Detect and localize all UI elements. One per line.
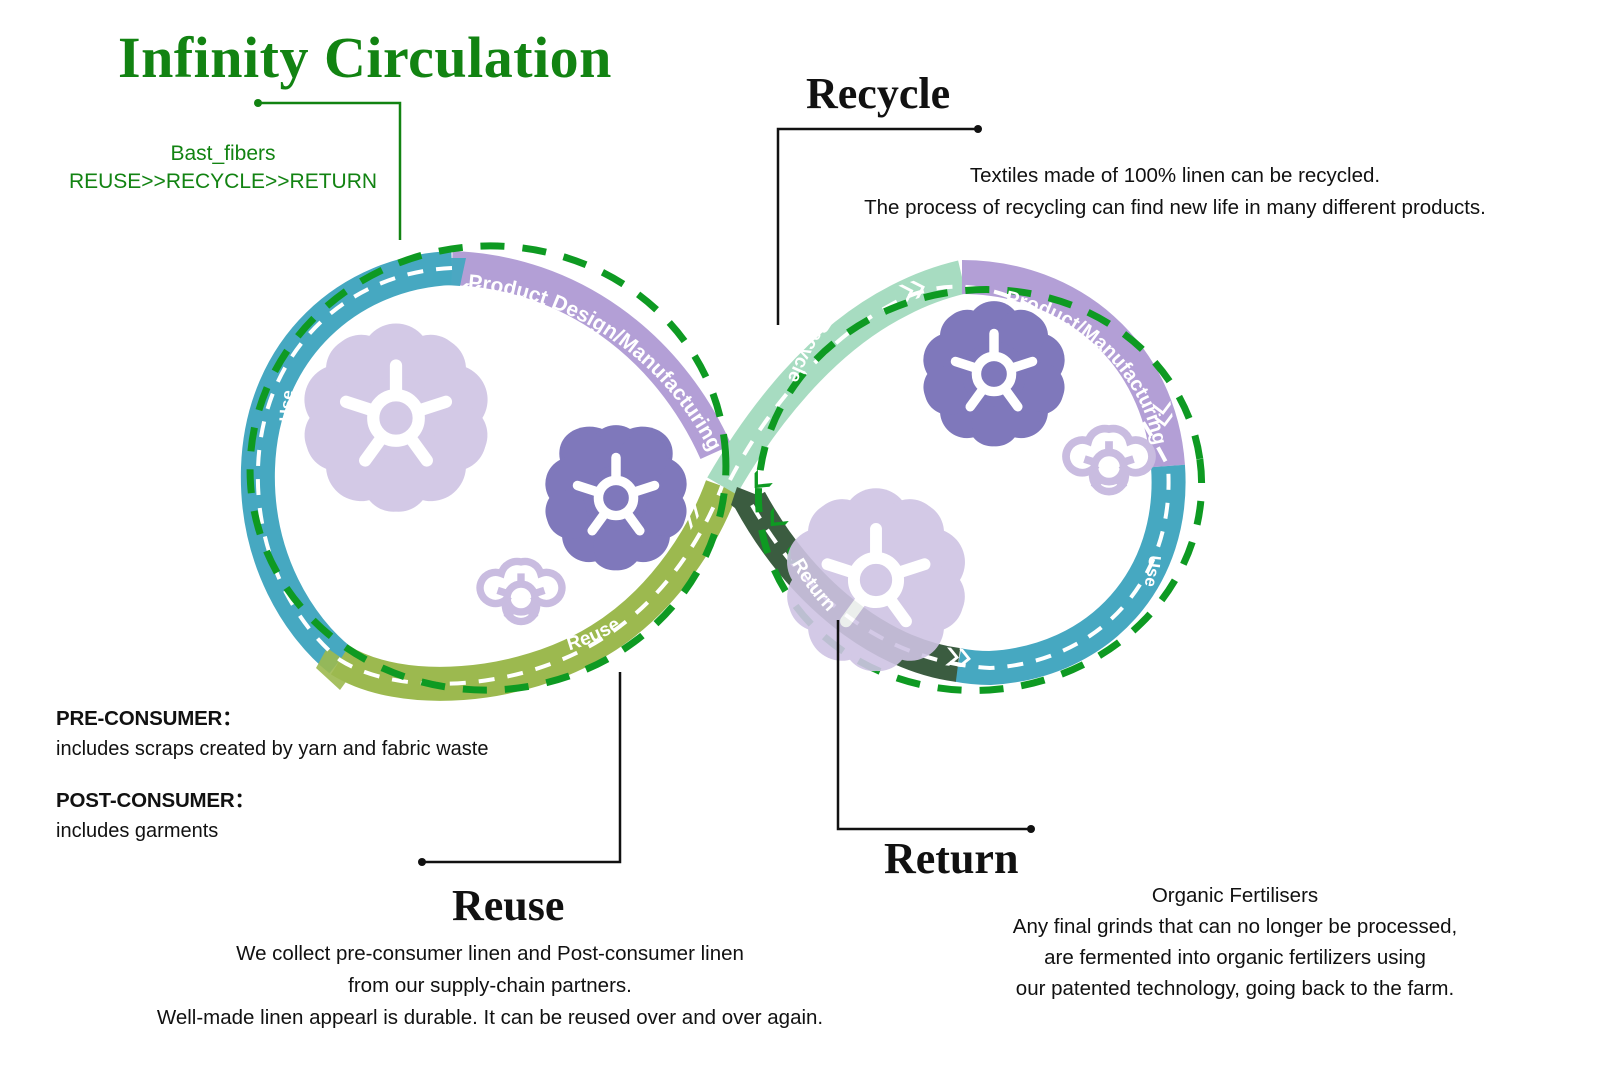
recycle-line1: Textiles made of 100% linen can be recyc… <box>760 160 1590 192</box>
ribbon-label-use-left-text: Use <box>276 389 297 422</box>
return-description: Organic Fertilisers Any final grinds tha… <box>905 880 1565 1004</box>
reuse-description: We collect pre-consumer linen and Post-c… <box>70 938 910 1034</box>
reuse-line1: We collect pre-consumer linen and Post-c… <box>70 938 910 970</box>
flower-lilac-outline-right <box>1066 429 1152 492</box>
return-line4: our patented technology, going back to t… <box>905 973 1565 1004</box>
reuse-heading: Reuse <box>452 880 564 931</box>
reuse-line2: from our supply-chain partners. <box>70 970 910 1002</box>
recycle-description: Textiles made of 100% linen can be recyc… <box>760 160 1590 224</box>
post-consumer-label: POST-CONSUMER： <box>56 788 576 814</box>
return-line1: Organic Fertilisers <box>905 880 1565 911</box>
reuse-line3: Well-made linen appearl is durable. It c… <box>70 1002 910 1034</box>
return-heading: Return <box>884 833 1018 884</box>
bast-fibers-callout: Bast_fibers REUSE>>RECYCLE>>RETURN <box>58 140 388 196</box>
flower-lilac-pale-left <box>284 322 508 535</box>
recycle-heading: Recycle <box>806 68 950 119</box>
pre-consumer-label: PRE-CONSUMER： <box>56 706 576 732</box>
bast-fibers-line2: REUSE>>RECYCLE>>RETURN <box>58 168 388 196</box>
consumer-definitions: PRE-CONSUMER： includes scraps created by… <box>56 706 576 870</box>
ribbon-label-use-left: Use <box>276 389 297 422</box>
flower-lilac-outline-left <box>480 561 562 621</box>
bast-fibers-line1: Bast_fibers <box>58 140 388 168</box>
return-line3: are fermented into organic fertilizers u… <box>905 942 1565 973</box>
return-line2: Any final grinds that can no longer be p… <box>905 911 1565 942</box>
segment-use-right <box>958 466 1169 668</box>
recycle-line2: The process of recycling can find new li… <box>760 192 1590 224</box>
pre-consumer-description: includes scraps created by yarn and fabr… <box>56 736 576 762</box>
post-consumer-description: includes garments <box>56 818 576 844</box>
